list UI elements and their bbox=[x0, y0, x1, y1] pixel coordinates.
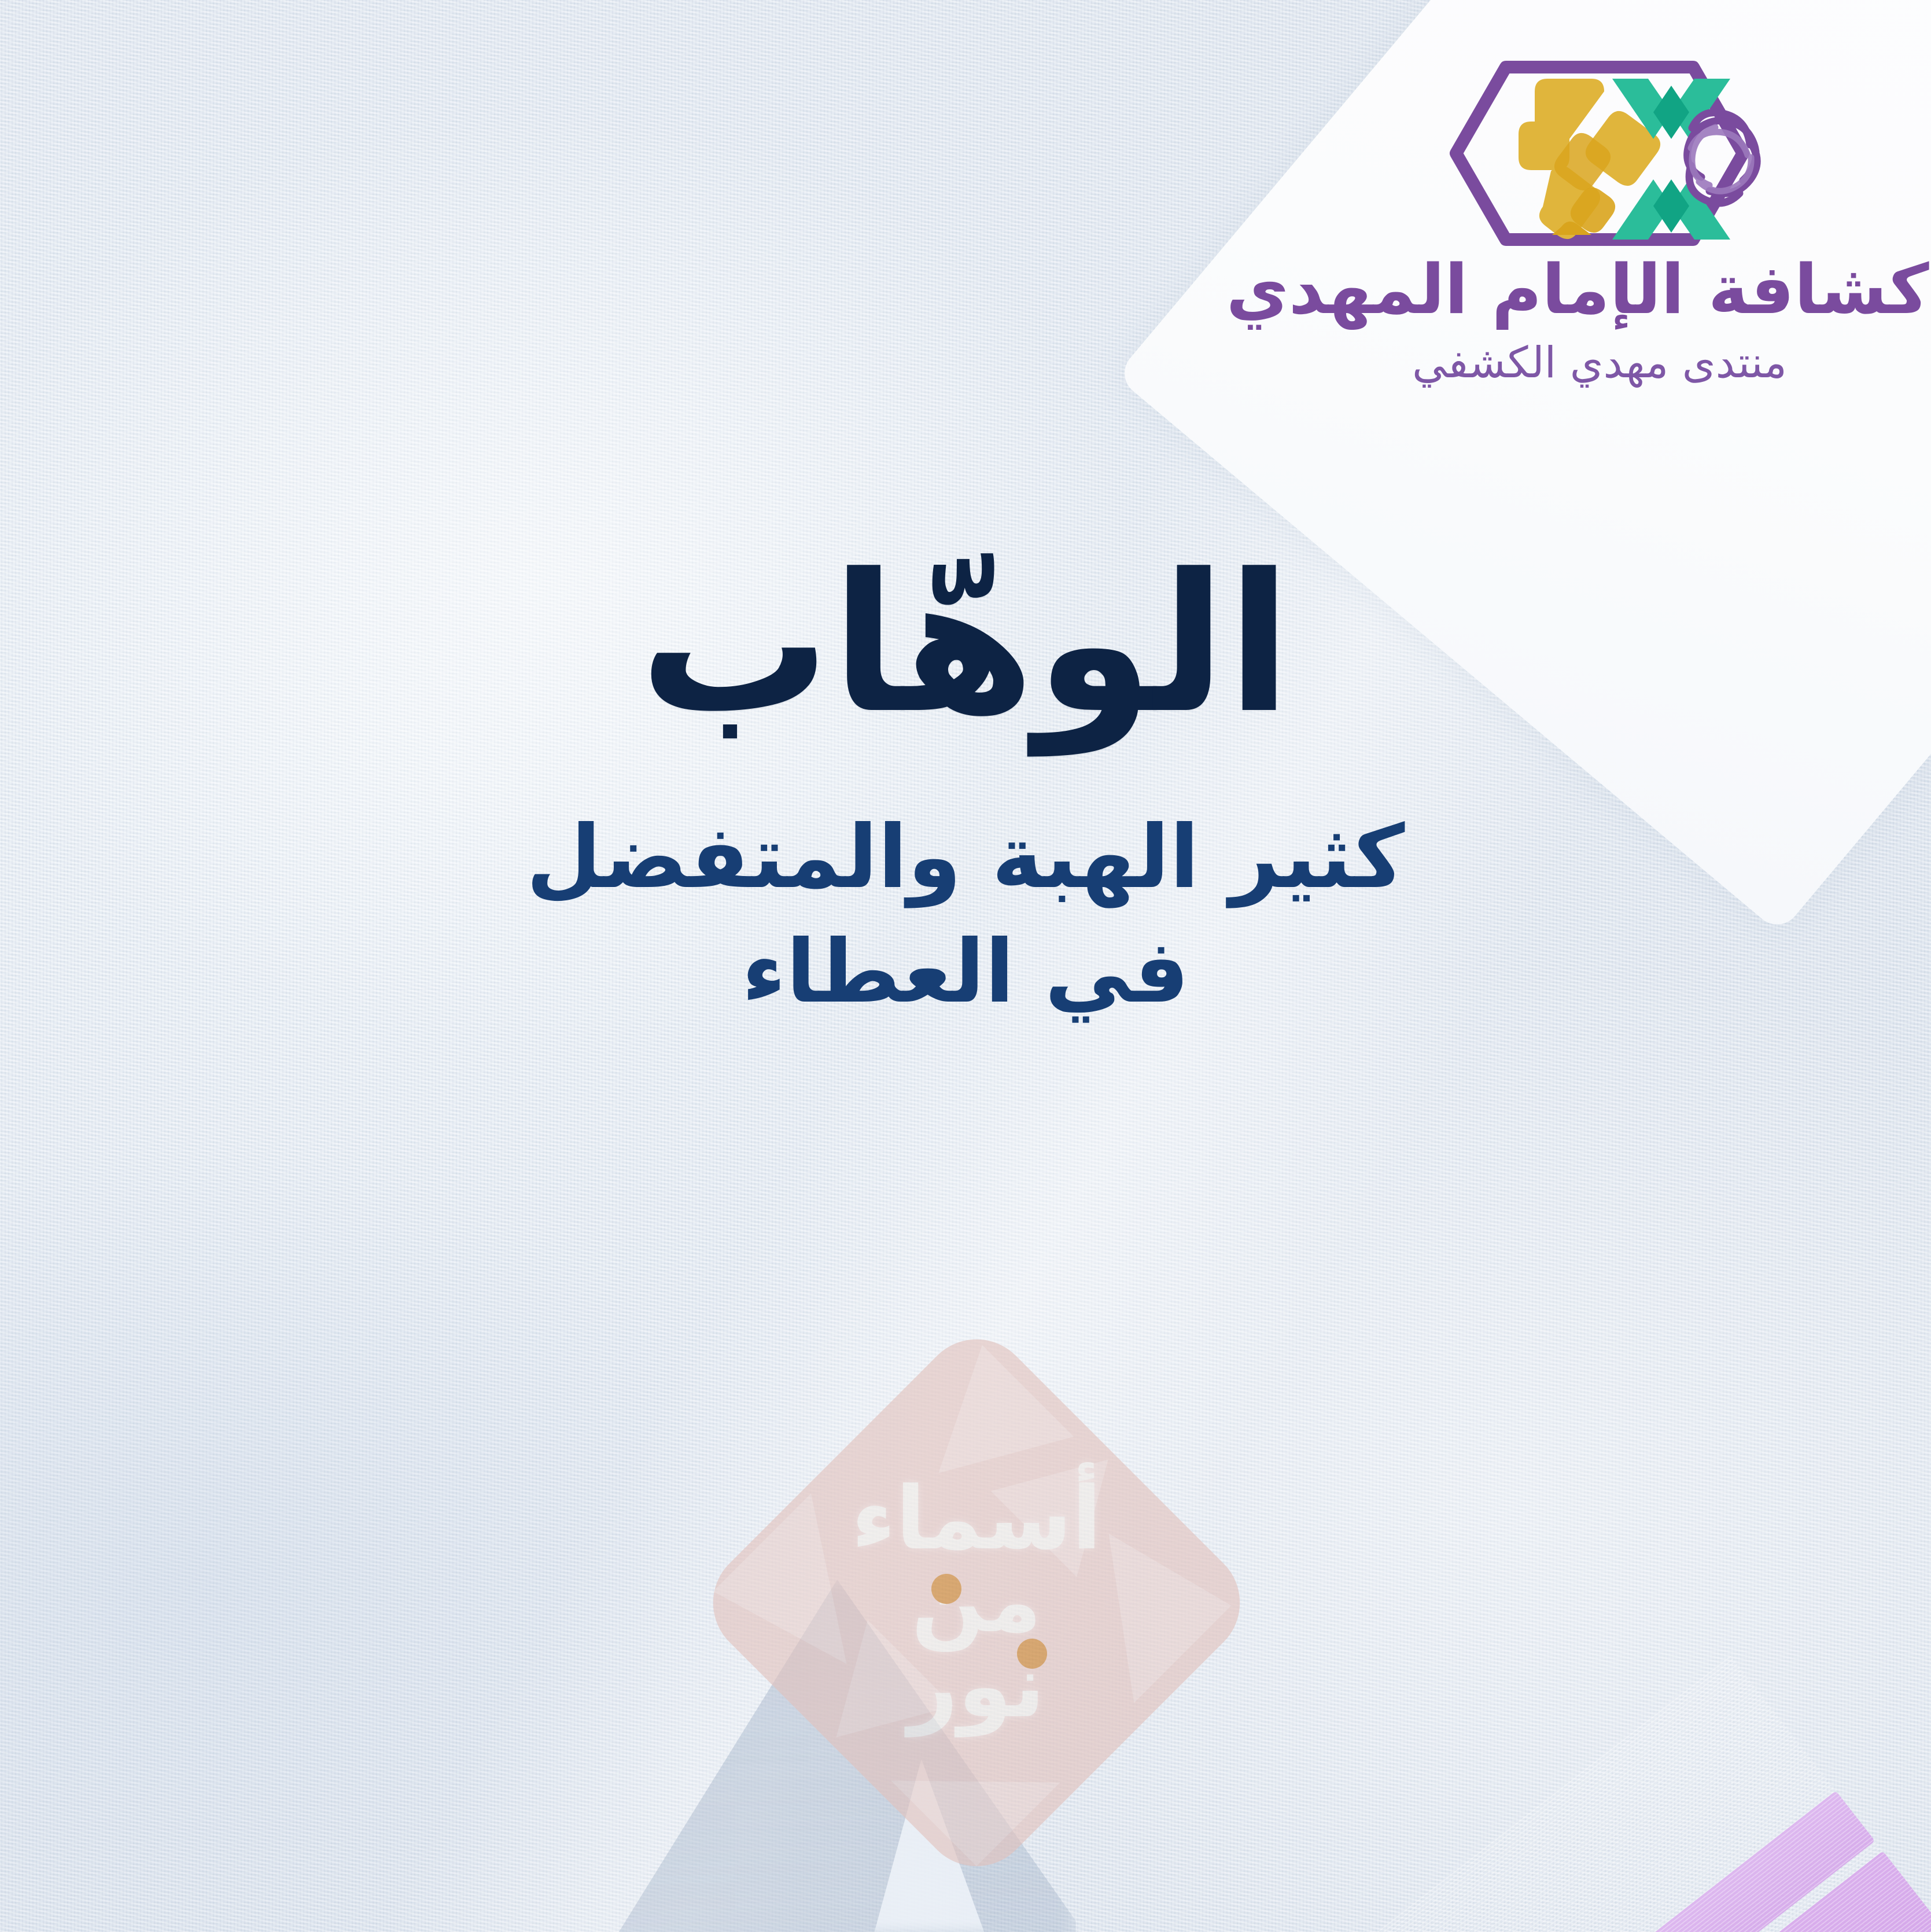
watermark-line-1: أسماء bbox=[852, 1475, 1102, 1562]
poster-canvas: كشافة الإمام المهدي اللّه عجّل فرجه منتد… bbox=[0, 0, 1931, 1932]
page-subtitle: كثير الهبة والمتفضل في العطاء bbox=[456, 800, 1475, 1029]
series-watermark: أسماء من نور bbox=[774, 1400, 1179, 1805]
brand-name: كشافة الإمام المهدي bbox=[1226, 255, 1929, 324]
watermark-line-2: من bbox=[912, 1559, 1042, 1644]
brand-name-row: كشافة الإمام المهدي اللّه عجّل فرجه bbox=[1226, 255, 1931, 324]
watermark-dot-icon bbox=[931, 1574, 961, 1604]
page-subtitle-line-2: في العطاء bbox=[456, 915, 1475, 1029]
page-subtitle-line-1: كثير الهبة والمتفضل bbox=[456, 800, 1475, 915]
page-title: الوهّاب bbox=[0, 544, 1931, 745]
scout-hexagon-emblem-icon bbox=[1438, 58, 1762, 249]
brand-subtitle: منتدى مهدي الكشفي bbox=[1412, 338, 1787, 388]
logo-content: كشافة الإمام المهدي اللّه عجّل فرجه منتد… bbox=[1267, 58, 1931, 486]
watermark-text: أسماء من نور bbox=[774, 1400, 1179, 1805]
headline-block: الوهّاب كثير الهبة والمتفضل في العطاء bbox=[0, 544, 1931, 1029]
watermark-dot-icon bbox=[1017, 1639, 1047, 1669]
